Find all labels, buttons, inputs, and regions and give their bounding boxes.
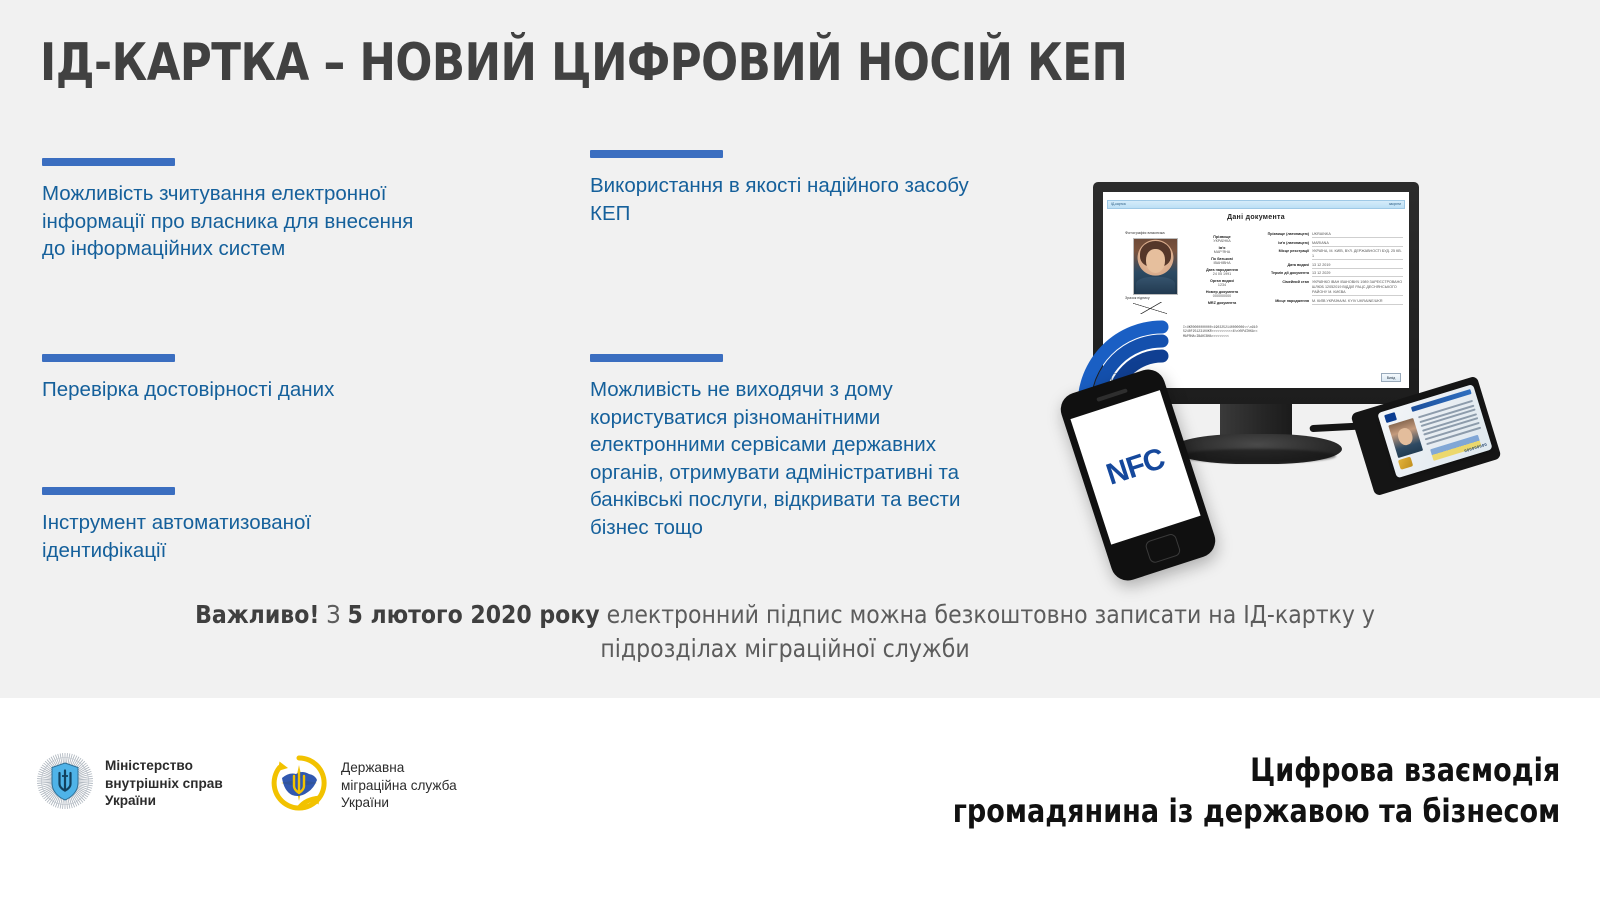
logo-line: України	[341, 794, 457, 812]
bullet-text: Інструмент автоматизованої ідентифікації	[42, 509, 422, 564]
field-label: Дата видачі	[1263, 263, 1309, 268]
field-value: UKRAINKA	[1312, 232, 1403, 238]
field-label: Сімейний стан	[1263, 280, 1309, 285]
logo-line: внутрішніх справ	[105, 775, 223, 793]
accent-rule	[42, 487, 175, 495]
accent-rule	[42, 158, 175, 166]
logo-line: Міністерство	[105, 757, 223, 775]
bullet-text: Можливість зчитування електронної інформ…	[42, 180, 422, 263]
document-right-fields: Прізвище (латиницею) UKRAINKA Ім'я (лати…	[1263, 232, 1403, 307]
tagline-line-1: Цифрова взаємодія	[953, 750, 1560, 791]
document-left-fields: Прізвище УКРАЇНКА Ім'я МАР'ЯНА По батько…	[1185, 232, 1259, 305]
footer-tagline: Цифрова взаємодія громадянина із державо…	[953, 750, 1560, 832]
logo-line: міграційна служба	[341, 777, 457, 795]
mvs-emblem-icon	[36, 752, 94, 815]
note-date: 5 лютого 2020 року	[348, 600, 600, 629]
photo-torso	[1136, 277, 1175, 294]
exit-button[interactable]: Вихід	[1381, 373, 1401, 382]
accent-rule	[42, 354, 175, 362]
field-label: Місце реєстрації	[1263, 249, 1309, 254]
nfc-label: NFC	[1102, 442, 1168, 492]
field-value: 24 05 1991	[1185, 272, 1259, 276]
note-pre-date: З	[326, 600, 340, 629]
field-label: Прізвище (латиницею)	[1263, 232, 1309, 237]
logo-block-mvs: Міністерство внутрішніх справ України	[36, 752, 223, 815]
field-value: 13 12 2019	[1312, 263, 1403, 269]
signature-label: Зразок підпису	[1125, 296, 1150, 300]
photo-face	[1146, 249, 1165, 273]
card-chip-icon	[1398, 456, 1413, 469]
infographic-root: ІД-КАРТКА – НОВИЙ ЦИФРОВИЙ НОСІЙ КЕП Мож…	[0, 0, 1600, 900]
field-value: 13 12 2029	[1312, 271, 1403, 277]
bullet-text: Перевірка достовірності даних	[42, 376, 334, 404]
logo-caption-mvs: Міністерство внутрішніх справ України	[105, 757, 223, 810]
logo-line: України	[105, 792, 223, 810]
field-value: УКРАЇНА, М. КИЇВ, ВУЛ. ДЕРЖАВНОСТІ БУД. …	[1312, 249, 1403, 260]
field-row: Прізвище (латиницею) UKRAINKA	[1263, 232, 1403, 238]
logo-block-dms: Державна міграційна служба України	[268, 752, 457, 819]
field-value: 1234	[1185, 283, 1259, 287]
bullet-text: Можливість не виходячи з дому користуват…	[590, 376, 970, 541]
accent-rule	[590, 354, 723, 362]
phone-speaker-icon	[1096, 388, 1128, 402]
field-label: Термін дії документа	[1263, 271, 1309, 276]
logo-line: Державна	[341, 759, 457, 777]
important-note: Важливо! З 5 лютого 2020 року електронни…	[190, 598, 1380, 666]
note-lead: Важливо!	[195, 600, 319, 629]
field-value: МАР'ЯНА	[1185, 250, 1259, 254]
field-row: Термін дії документа 13 12 2029	[1263, 271, 1403, 277]
accent-rule	[590, 150, 723, 158]
mrz-block: I<UKR0000000000<1902252140000006<<\n9105…	[1183, 325, 1259, 338]
monitor-base-shadow	[1178, 449, 1336, 463]
field-row: Місце реєстрації УКРАЇНА, М. КИЇВ, ВУЛ. …	[1263, 249, 1403, 260]
window-close-label[interactable]: закрити	[1389, 203, 1401, 206]
field-value: 000000000	[1185, 294, 1259, 298]
illustration: ІД-картка закрити Дані документа Фотогра…	[1060, 165, 1560, 575]
card-face	[1396, 426, 1414, 446]
tagline-line-2: громадянина із державою та бізнесом	[953, 791, 1560, 832]
field-row: Ім'я (латиницею) MARIANA	[1263, 241, 1403, 247]
field-value: MARIANA	[1312, 241, 1403, 247]
note-rest: електронний підпис можна безкоштовно зап…	[600, 600, 1375, 663]
field-value: М. КИЇВ УКРАЇНА/М. KYIV UKRAINE/UKR	[1312, 299, 1403, 305]
bullet-left-3: Інструмент автоматизованої ідентифікації	[42, 487, 422, 564]
field-row: Сімейний стан УКРАЇНКО ІВАН ІВАНОВИЧ 198…	[1263, 280, 1403, 296]
card-eu-emblem	[1384, 412, 1397, 423]
field-value: ІВАНІВНА	[1185, 261, 1259, 265]
page-title: ІД-КАРТКА – НОВИЙ ЦИФРОВИЙ НОСІЙ КЕП	[40, 33, 1127, 93]
logo-caption-dms: Державна міграційна служба України	[341, 759, 457, 812]
window-title-left: ІД-картка	[1111, 203, 1126, 206]
portrait-photo	[1133, 238, 1178, 295]
dms-emblem-icon	[268, 752, 330, 819]
bullet-right-2: Можливість не виходячи з дому користуват…	[590, 354, 970, 541]
field-label: MRZ документа	[1185, 301, 1259, 305]
card-portrait	[1388, 418, 1423, 458]
bullet-text: Використання в якості надійного засобу К…	[590, 172, 970, 227]
field-value: УКРАЇНКО ІВАН ІВАНОВИЧ 1989 ЗАРЕЄСТРОВАН…	[1312, 280, 1403, 296]
phone-home-button[interactable]	[1144, 533, 1182, 565]
field-row: Місце народження М. КИЇВ УКРАЇНА/М. KYIV…	[1263, 299, 1403, 305]
bullet-left-2: Перевірка достовірності даних	[42, 354, 334, 404]
photo-label: Фотографія власника	[1125, 230, 1165, 235]
bullet-left-1: Можливість зчитування електронної інформ…	[42, 158, 422, 263]
field-value: УКРАЇНКА	[1185, 239, 1259, 243]
field-label: Місце народження	[1263, 299, 1309, 304]
field-row: Дата видачі 13 12 2019	[1263, 263, 1403, 269]
bullet-right-1: Використання в якості надійного засобу К…	[590, 150, 970, 227]
document-heading: Дані документа	[1103, 214, 1409, 221]
window-title-bar: ІД-картка закрити	[1107, 200, 1405, 209]
field-label: Ім'я (латиницею)	[1263, 241, 1309, 246]
